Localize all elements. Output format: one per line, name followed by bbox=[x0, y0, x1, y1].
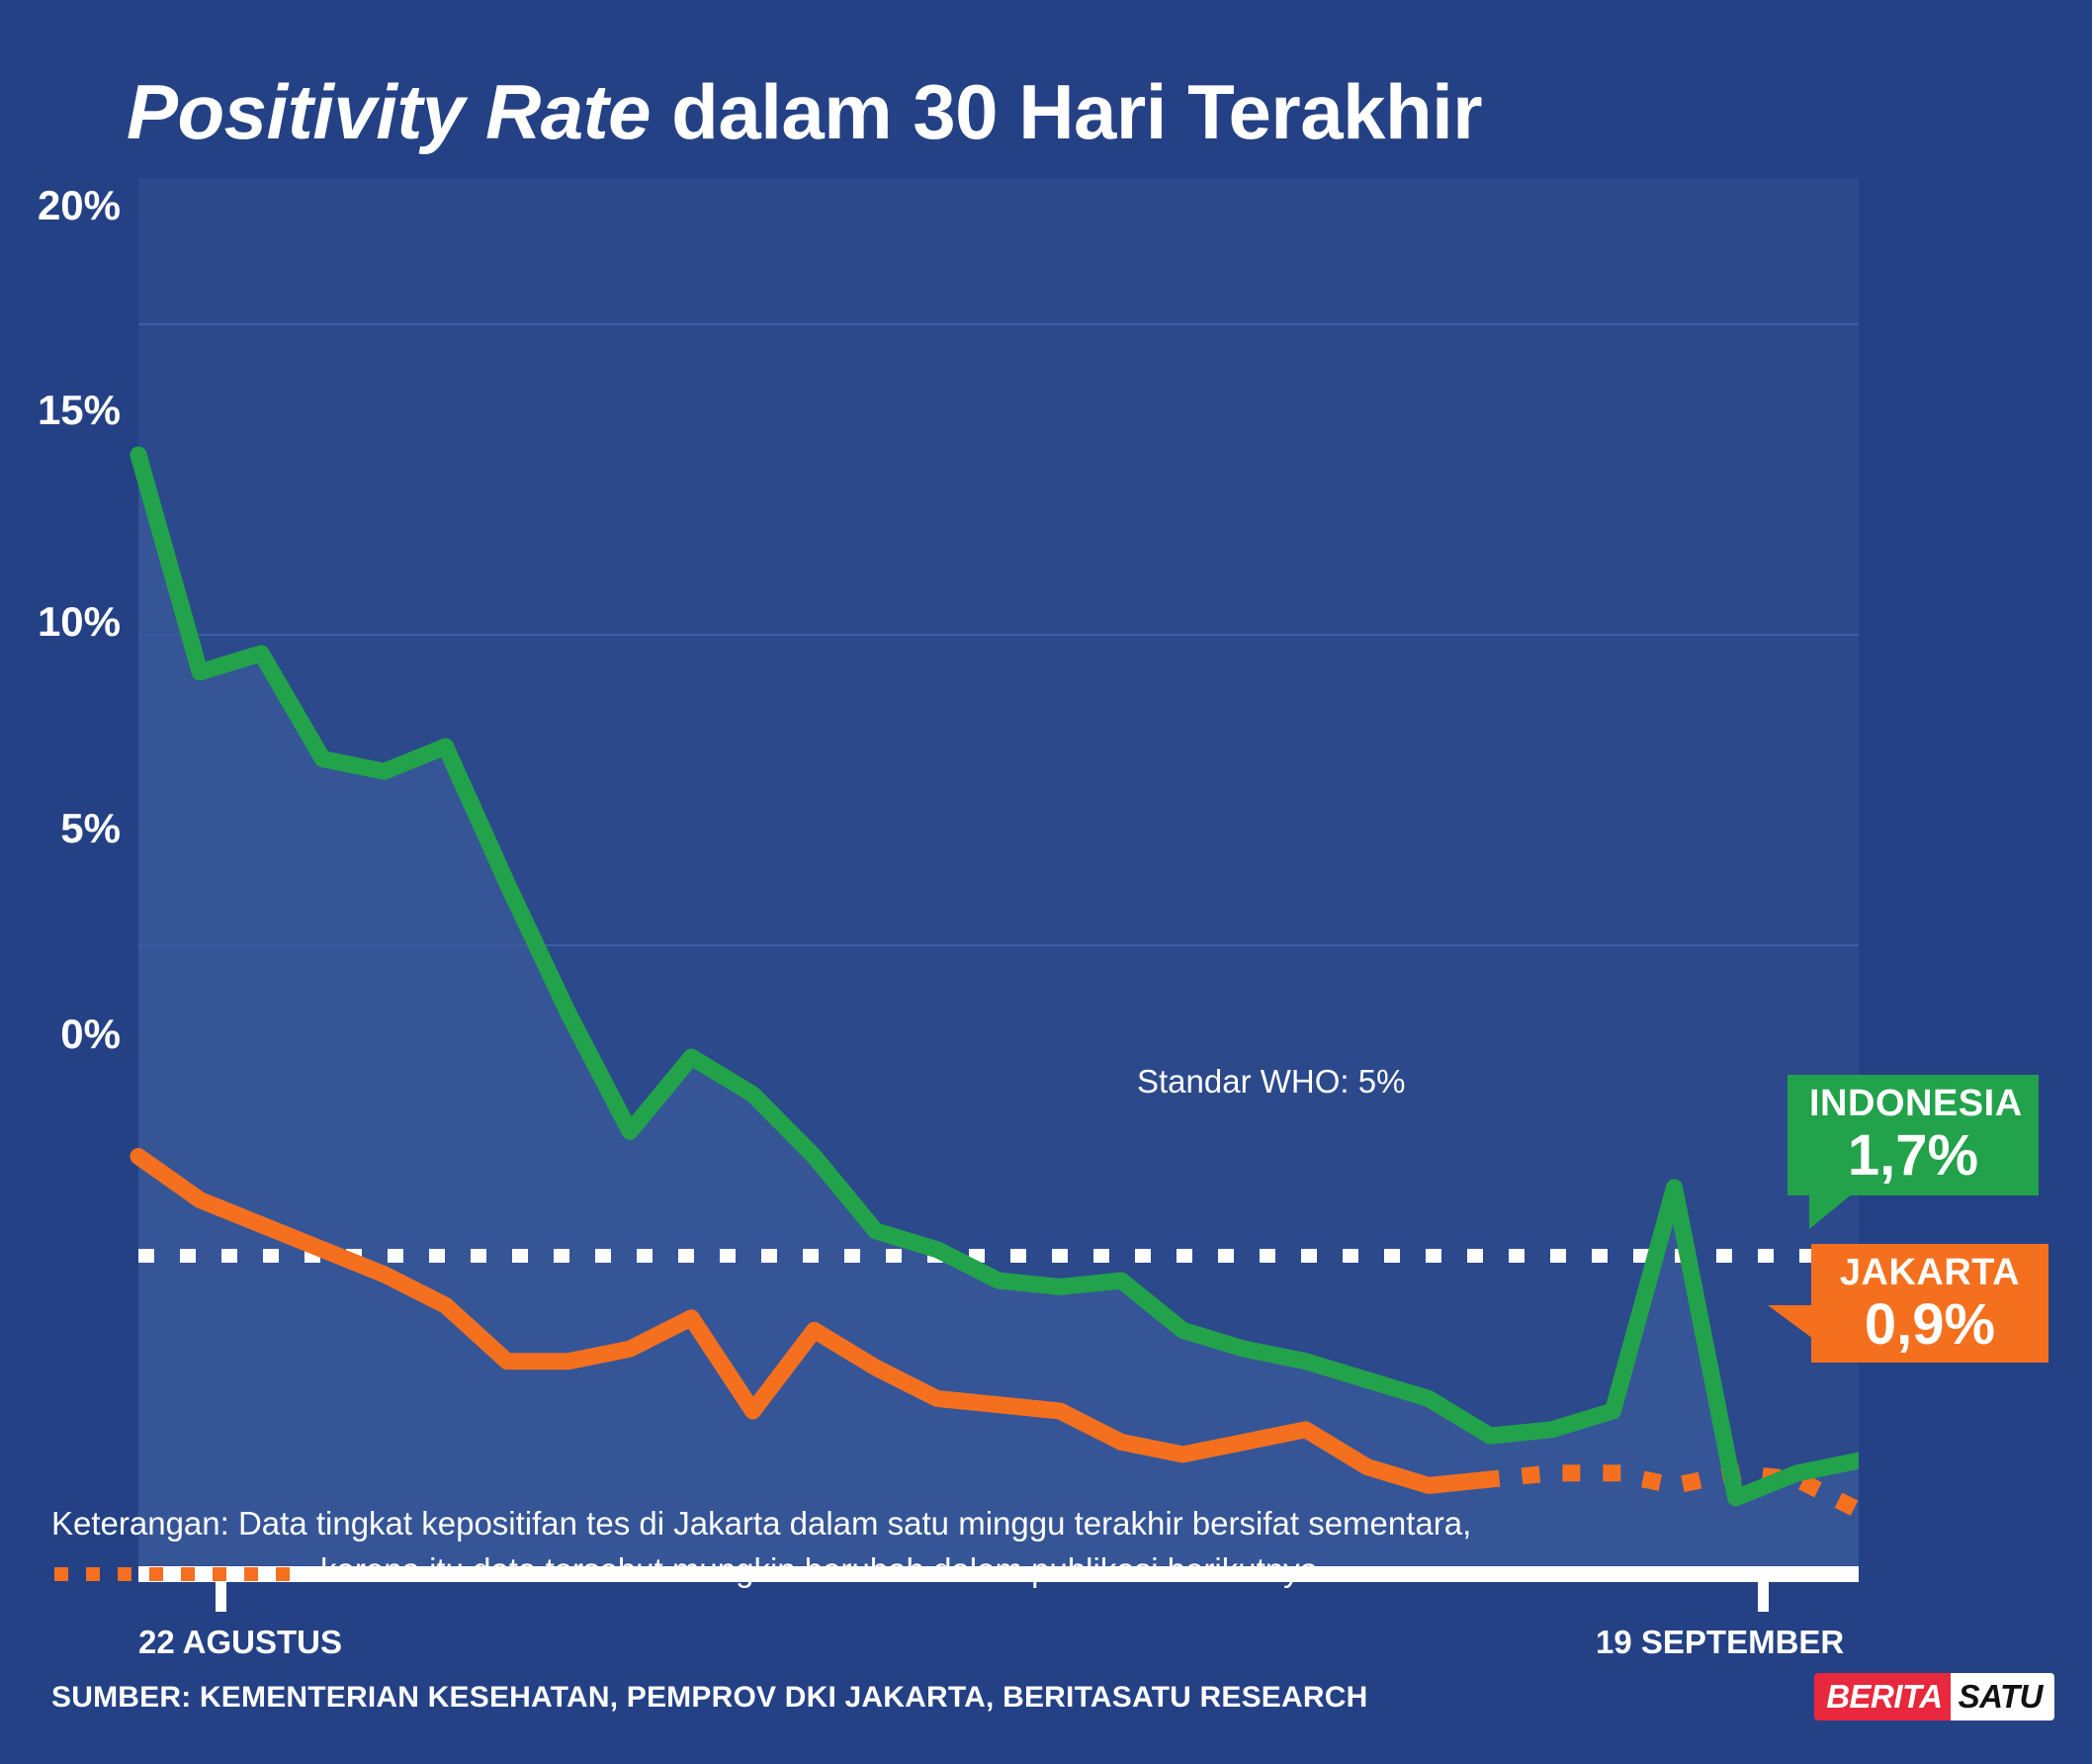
logo-berita: BERITA bbox=[1814, 1673, 1950, 1720]
footnote-line-1: Keterangan: Data tingkat kepositifan tes… bbox=[51, 1505, 1471, 1542]
dotted-line-legend-icon bbox=[54, 1567, 290, 1581]
footnote-line-2: karena itu data tersebut mungkin berubah… bbox=[51, 1547, 2029, 1594]
callout-jakarta-name: JAKARTA bbox=[1833, 1254, 2027, 1293]
title-emphasis: Positivity Rate bbox=[127, 68, 651, 155]
title-rest: dalam 30 Hari Terakhir bbox=[651, 68, 1482, 155]
logo-satu: SATU bbox=[1951, 1673, 2054, 1720]
x-label-end: 19 SEPTEMBER bbox=[1596, 1624, 1844, 1661]
callout-indonesia[interactable]: INDONESIA 1,7% bbox=[1787, 1075, 2039, 1195]
footnote: Keterangan: Data tingkat kepositifan tes… bbox=[51, 1501, 2029, 1594]
callout-jakarta[interactable]: JAKARTA 0,9% bbox=[1811, 1244, 2048, 1363]
page-title: Positivity Rate dalam 30 Hari Terakhir bbox=[127, 67, 1482, 157]
who-standard-annotation: Standar WHO: 5% bbox=[1137, 1063, 1405, 1101]
callout-indonesia-value: 1,7% bbox=[1809, 1126, 2017, 1187]
chart-area bbox=[0, 178, 2092, 1394]
infographic-root: Positivity Rate dalam 30 Hari Terakhir 2… bbox=[0, 0, 2092, 1764]
source-line: SUMBER: KEMENTERIAN KESEHATAN, PEMPROV D… bbox=[51, 1681, 1367, 1715]
callout-indonesia-name: INDONESIA bbox=[1809, 1085, 2017, 1124]
beritasatu-logo: BERITA SATU bbox=[1814, 1673, 2054, 1720]
callout-jakarta-value: 0,9% bbox=[1833, 1295, 2027, 1356]
positivity-rate-line-chart bbox=[0, 178, 1859, 1582]
x-label-start: 22 AGUSTUS bbox=[138, 1624, 342, 1661]
